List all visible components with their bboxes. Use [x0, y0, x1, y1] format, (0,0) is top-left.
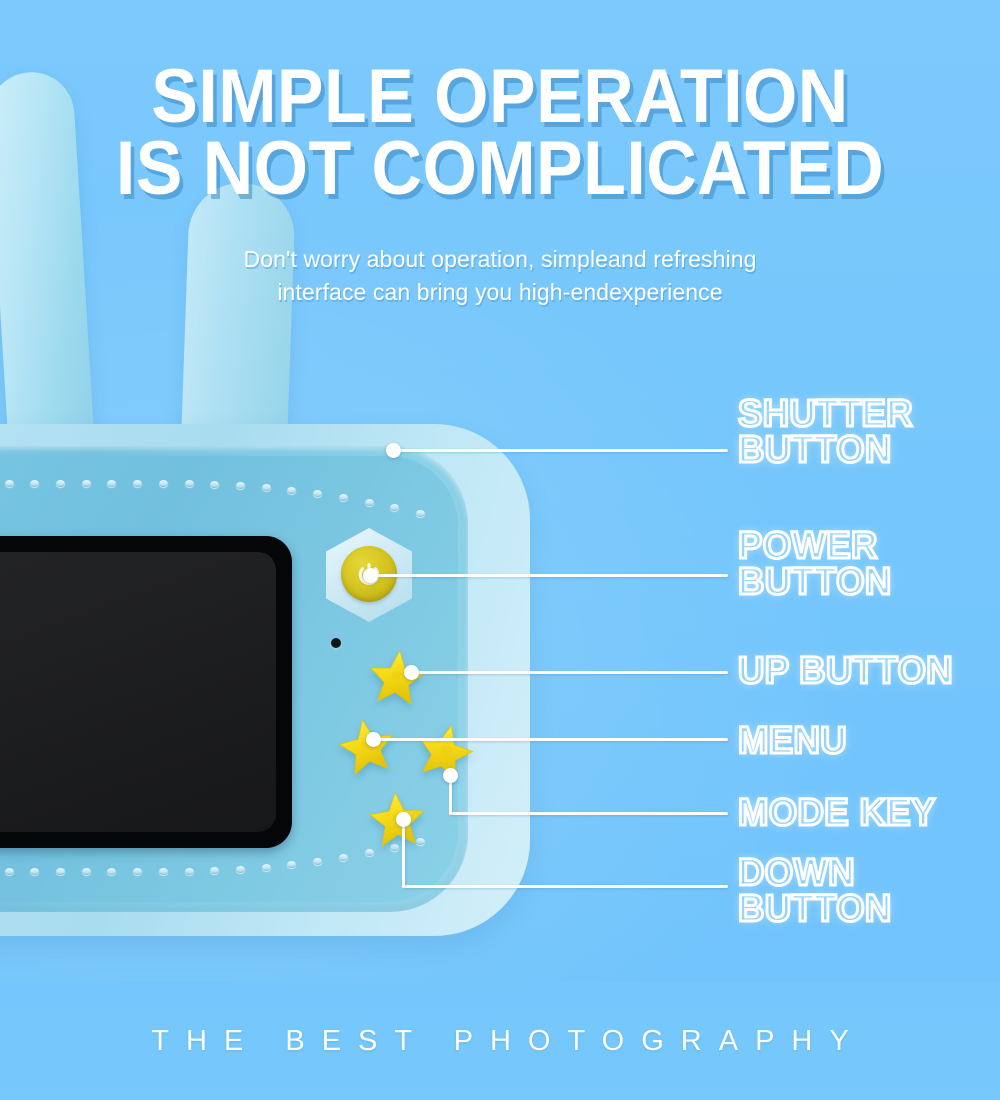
leader-dot-up-button — [404, 665, 419, 680]
leader-line-down-button — [404, 885, 728, 888]
leader-dot-menu-button — [366, 732, 381, 747]
leader-dot-power-button — [363, 568, 378, 583]
leader-dot-shutter-button — [386, 443, 401, 458]
leader-line-power-button — [371, 574, 728, 577]
menu-star-button[interactable] — [331, 711, 402, 781]
leader-line-up-button — [412, 671, 728, 674]
leader-dot-down-button — [396, 812, 411, 827]
leader-line-mode-key — [451, 812, 728, 815]
product-infographic: SHUTTER BUTTONPOWER BUTTONUP BUTTONMENUM… — [0, 0, 1000, 1100]
leader-dot-mode-key — [443, 768, 458, 783]
leader-elbow-down-button — [402, 819, 405, 888]
up-star-button[interactable] — [363, 644, 431, 710]
footer-band — [0, 982, 1000, 1100]
leader-line-shutter-button — [394, 449, 728, 452]
leader-line-menu-button — [374, 738, 728, 741]
lcd-display-glass — [0, 552, 276, 832]
microphone-hole — [331, 638, 341, 648]
lcd-screen — [0, 536, 292, 848]
